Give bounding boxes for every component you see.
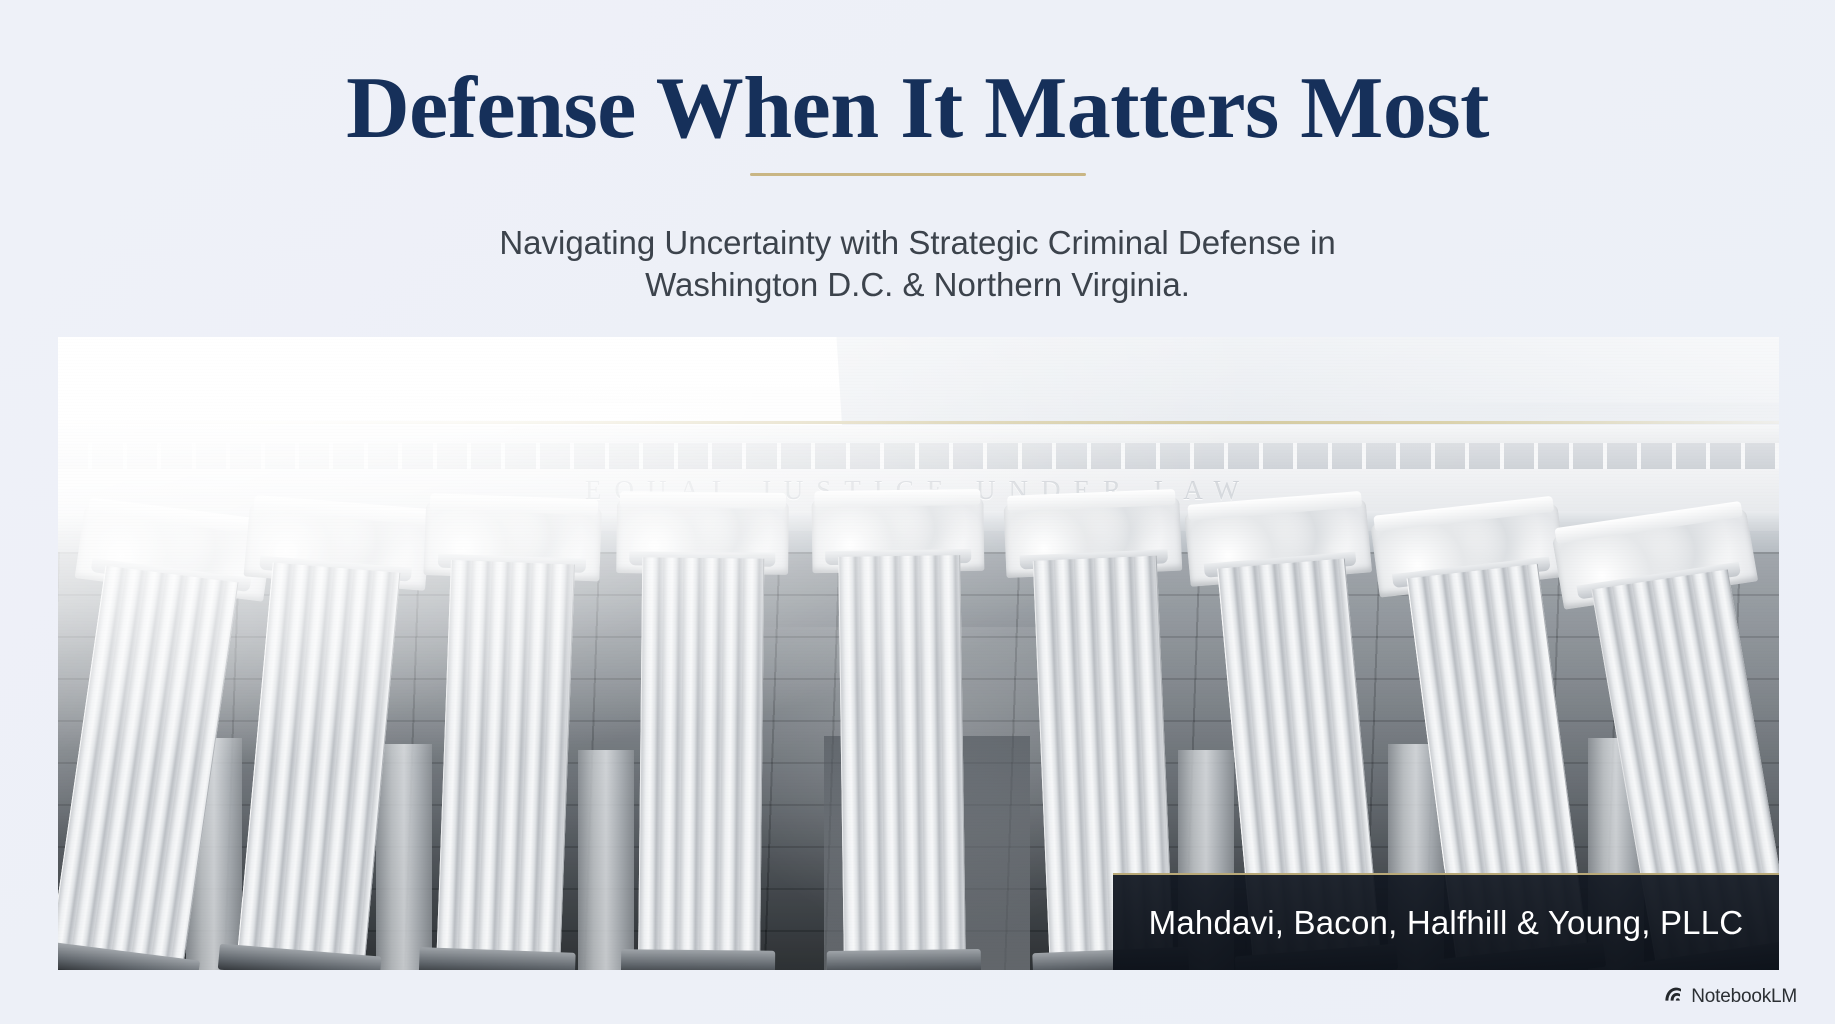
column-shaft — [236, 563, 400, 970]
notebooklm-label: NotebookLM — [1691, 986, 1797, 1008]
page-title: Defense When It Matters Most — [0, 62, 1835, 155]
column — [838, 555, 964, 970]
column — [638, 557, 762, 970]
subtitle-line-1: Navigating Uncertainty with Strategic Cr… — [499, 224, 1335, 261]
column-shaft — [58, 566, 239, 970]
column-base — [827, 949, 981, 970]
cornice-band — [58, 425, 1779, 443]
firm-name-caption: Mahdavi, Bacon, Halfhill & Young, PLLC — [1113, 873, 1779, 970]
column — [436, 560, 573, 970]
presentation-slide: Defense When It Matters Most Navigating … — [0, 0, 1835, 1024]
title-block: Defense When It Matters Most — [0, 62, 1835, 176]
gold-divider-rule — [750, 173, 1086, 176]
subtitle-line-2: Washington D.C. & Northern Virginia. — [358, 264, 1478, 306]
column-shaft — [838, 555, 966, 970]
slide-subtitle: Navigating Uncertainty with Strategic Cr… — [358, 222, 1478, 306]
column-shaft — [638, 557, 764, 970]
column-shaft — [436, 560, 575, 970]
notebooklm-watermark: NotebookLM — [1663, 985, 1797, 1008]
dentil-row — [58, 443, 1779, 469]
notebooklm-icon — [1663, 985, 1683, 1008]
column — [236, 563, 398, 970]
column — [58, 566, 237, 970]
column-base — [621, 949, 775, 970]
firm-name-text: Mahdavi, Bacon, Halfhill & Young, PLLC — [1149, 904, 1744, 942]
gold-accent-line — [58, 421, 1779, 424]
supreme-court-photo: EQUAL JUSTICE UNDER LAW — [58, 337, 1779, 970]
